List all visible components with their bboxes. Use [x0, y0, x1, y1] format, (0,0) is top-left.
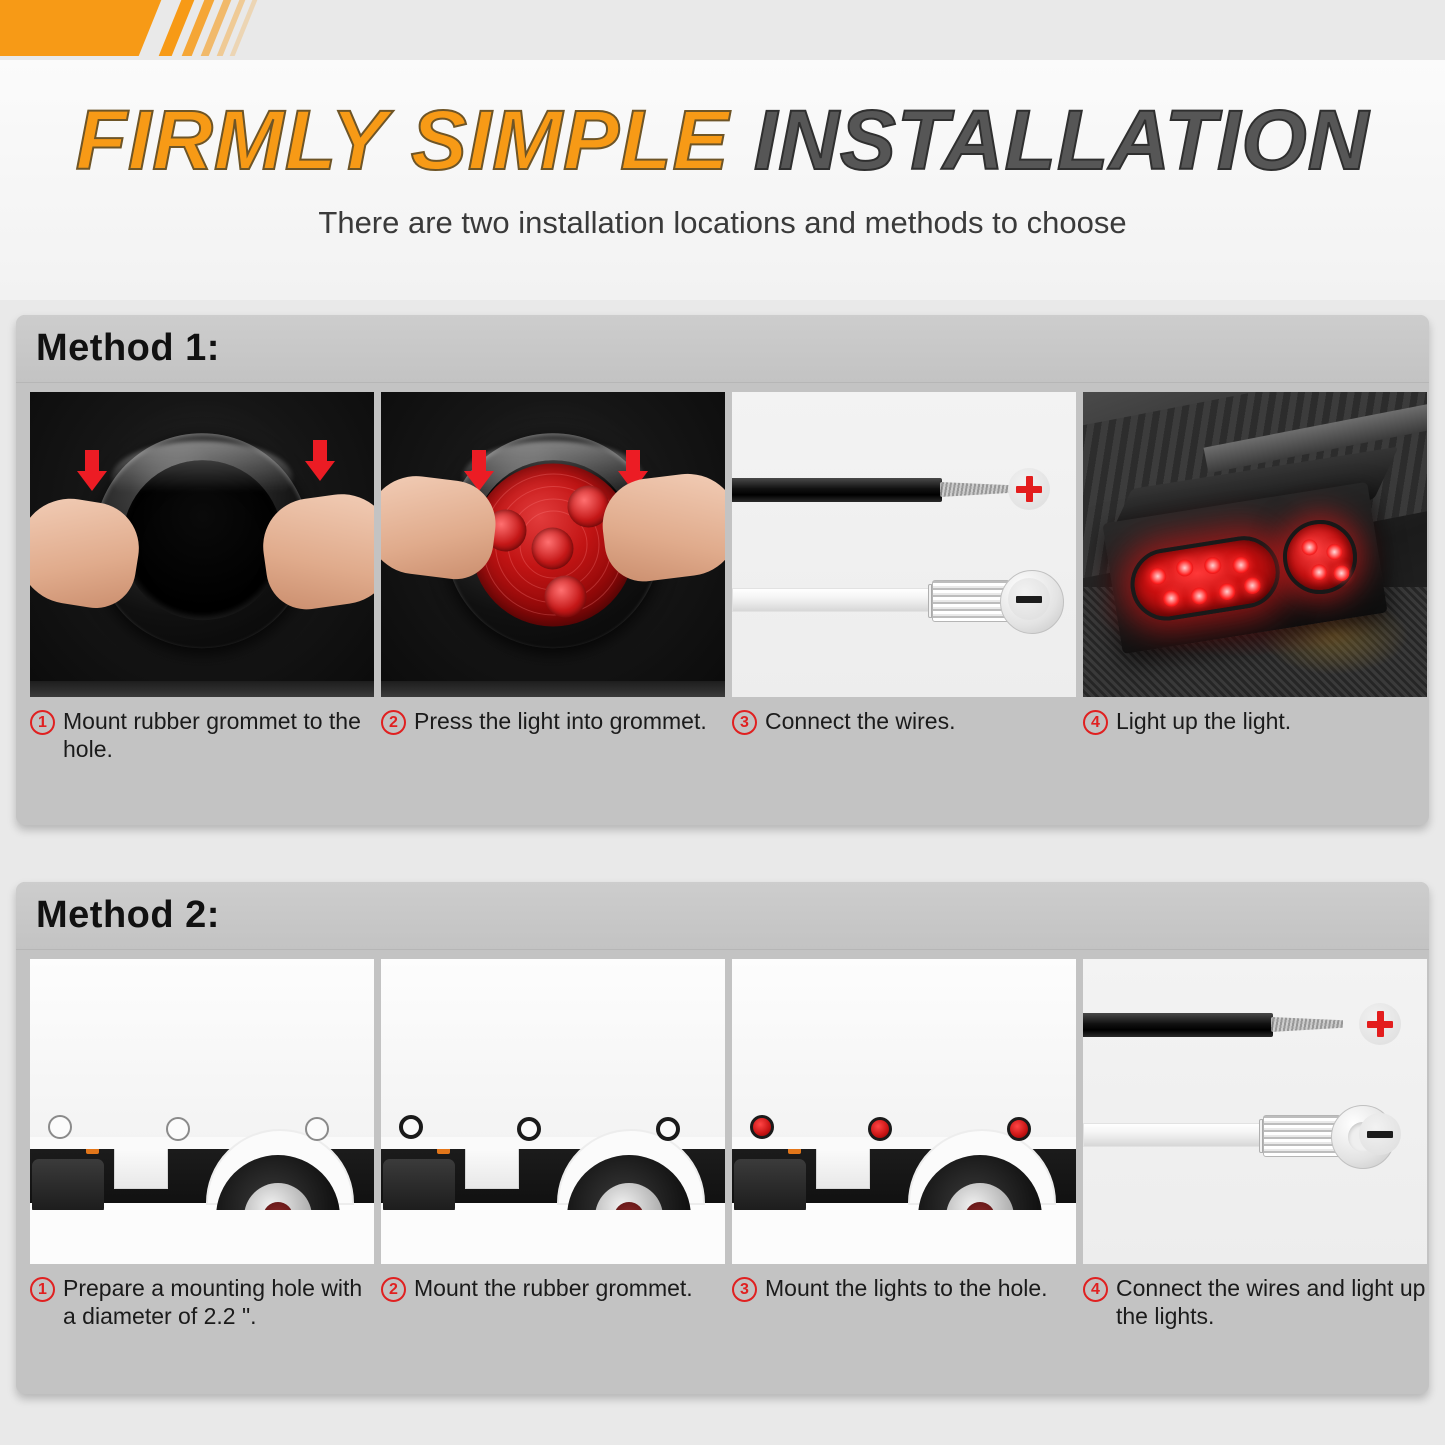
step-number-badge: 3	[732, 1277, 757, 1302]
mounting-hole	[48, 1115, 72, 1139]
black-wire-strands	[940, 482, 1012, 497]
road-surface	[732, 1210, 1076, 1264]
step-caption: 3 Mount the lights to the hole.	[732, 1274, 1076, 1330]
battery-box	[816, 1147, 870, 1189]
method-1-captions: 1 Mount rubber grommet to the hole. 2 Pr…	[16, 697, 1429, 763]
page-title-orange: FIRMLY SIMPLE	[76, 93, 730, 187]
fuel-tank	[383, 1159, 455, 1215]
black-wire	[732, 478, 942, 502]
page-header: FIRMLY SIMPLE INSTALLATION There are two…	[0, 60, 1445, 300]
step-caption-text: Prepare a mounting hole with a diameter …	[63, 1274, 374, 1330]
step-caption-text: Light up the light.	[1116, 707, 1427, 735]
grommet-photo	[30, 392, 374, 697]
method-1-panels	[16, 383, 1429, 697]
truck-side-lights	[732, 959, 1076, 1264]
step-number-badge: 3	[732, 710, 757, 735]
wire-polarity-diagram	[732, 392, 1076, 697]
method-2-card: Method 2:	[16, 882, 1429, 1394]
installed-red-light	[750, 1115, 774, 1139]
method-2-image-2	[381, 959, 725, 1264]
crimp-barrel	[932, 580, 1010, 622]
method-2-header: Method 2:	[16, 882, 1429, 950]
road-surface	[381, 1210, 725, 1264]
step-number-badge: 1	[30, 1277, 55, 1302]
battery-box	[465, 1147, 519, 1189]
wire-polarity-diagram	[1083, 959, 1427, 1264]
step-caption: 4 Light up the light.	[1083, 707, 1427, 763]
press-light-photo	[381, 392, 725, 697]
method-2-title: Method 2:	[36, 894, 220, 937]
page-subtitle: There are two installation locations and…	[0, 205, 1445, 241]
step-caption: 2 Press the light into grommet.	[381, 707, 725, 763]
truck-side-holes	[30, 959, 374, 1264]
truck-side-grommets	[381, 959, 725, 1264]
banner-block	[0, 0, 161, 56]
truck-box-body	[732, 959, 1076, 1143]
positive-icon	[1008, 468, 1050, 510]
negative-icon	[1008, 578, 1050, 620]
step-caption-text: Connect the wires.	[765, 707, 1076, 735]
page-title: FIRMLY SIMPLE INSTALLATION	[0, 98, 1445, 182]
led-bulb	[545, 575, 587, 617]
step-number-badge: 2	[381, 1277, 406, 1302]
installed-red-light	[868, 1117, 892, 1141]
crimp-barrel	[1263, 1115, 1341, 1157]
step-number-badge: 1	[30, 710, 55, 735]
black-wire	[1083, 1013, 1273, 1037]
method-2-image-3	[732, 959, 1076, 1264]
method-2-image-4	[1083, 959, 1427, 1264]
method-1-title: Method 1:	[36, 327, 220, 370]
truck-box-body	[30, 959, 374, 1143]
method-1-image-3	[732, 392, 1076, 697]
road-surface	[30, 1210, 374, 1264]
step-number-badge: 4	[1083, 1277, 1108, 1302]
step-caption-text: Press the light into grommet.	[414, 707, 725, 735]
installed-red-light	[1007, 1117, 1031, 1141]
step-caption: 1 Prepare a mounting hole with a diamete…	[30, 1274, 374, 1330]
method-2-image-1	[30, 959, 374, 1264]
mounting-hole	[166, 1117, 190, 1141]
step-caption-text: Mount the lights to the hole.	[765, 1274, 1076, 1302]
step-caption-text: Mount rubber grommet to the hole.	[63, 707, 374, 763]
oval-tail-lamp	[1125, 531, 1284, 626]
installed-grommet	[399, 1115, 423, 1139]
fuel-tank	[32, 1159, 104, 1215]
mounting-hole	[305, 1117, 329, 1141]
installed-grommet	[656, 1117, 680, 1141]
truck-box-body	[381, 959, 725, 1143]
method-1-image-2	[381, 392, 725, 697]
step-caption: 1 Mount rubber grommet to the hole.	[30, 707, 374, 763]
step-number-badge: 4	[1083, 710, 1108, 735]
led-bulb	[532, 527, 574, 569]
method-1-image-1	[30, 392, 374, 697]
battery-box	[114, 1147, 168, 1189]
step-caption: 4 Connect the wires and light up the lig…	[1083, 1274, 1427, 1330]
method-1-header: Method 1:	[16, 315, 1429, 383]
method-1-card: Method 1:	[16, 315, 1429, 825]
method-1-image-4	[1083, 392, 1427, 697]
method-2-panels	[16, 950, 1429, 1264]
page-title-dark: INSTALLATION	[754, 93, 1369, 187]
white-wire	[732, 588, 937, 612]
positive-icon	[1359, 1003, 1401, 1045]
negative-icon	[1359, 1113, 1401, 1155]
step-caption: 2 Mount the rubber grommet.	[381, 1274, 725, 1330]
installed-grommet	[517, 1117, 541, 1141]
step-caption: 3 Connect the wires.	[732, 707, 1076, 763]
trailer-light-illuminated-photo	[1083, 392, 1427, 697]
method-2-captions: 1 Prepare a mounting hole with a diamete…	[16, 1264, 1429, 1330]
top-banner	[0, 0, 1445, 60]
step-caption-text: Mount the rubber grommet.	[414, 1274, 725, 1302]
step-number-badge: 2	[381, 710, 406, 735]
step-caption-text: Connect the wires and light up the light…	[1116, 1274, 1427, 1330]
white-wire	[1083, 1123, 1268, 1147]
black-wire-strands	[1271, 1017, 1343, 1032]
fuel-tank	[734, 1159, 806, 1215]
